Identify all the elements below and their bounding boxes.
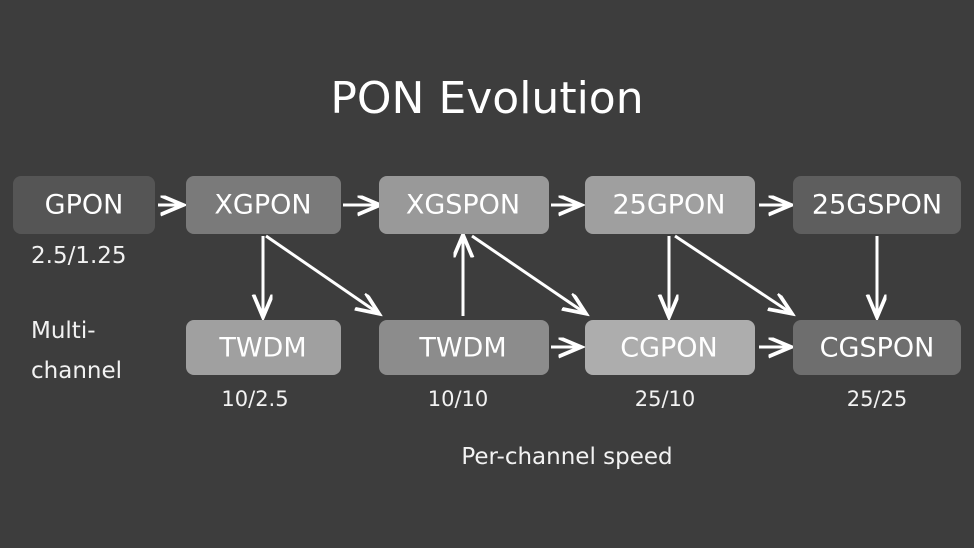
speed-twdm-1: 10/2.5 — [221, 387, 288, 411]
speed-cgspon: 25/25 — [847, 387, 908, 411]
speed-cgpon: 25/10 — [635, 387, 696, 411]
pon-evolution-diagram: PON Evolution — [0, 0, 974, 548]
node-25gpon[interactable]: 25GPON — [585, 176, 755, 234]
node-twdm-1-label: TWDM — [218, 333, 306, 364]
node-gpon[interactable]: GPON — [13, 176, 155, 234]
node-cgspon-label: CGSPON — [820, 333, 935, 364]
speed-twdm-2: 10/10 — [428, 387, 489, 411]
node-twdm-2-label: TWDM — [418, 333, 506, 364]
label-single-channel-speed: 2.5/1.25 — [31, 243, 127, 269]
node-twdm-2[interactable]: TWDM 10/10 — [379, 320, 549, 411]
node-xgpon-label: XGPON — [214, 190, 311, 221]
node-xgpon[interactable]: XGPON — [186, 176, 341, 234]
node-xgspon-label: XGSPON — [406, 190, 520, 221]
node-25gpon-label: 25GPON — [612, 190, 725, 221]
diagram-canvas: PON Evolution — [0, 0, 974, 548]
node-gpon-label: GPON — [45, 190, 124, 221]
node-25gspon-label: 25GSPON — [812, 190, 942, 221]
label-multi-channel-line2: channel — [31, 358, 122, 384]
edge-xgspon-to-cgpon — [472, 236, 585, 313]
node-cgspon[interactable]: CGSPON 25/25 — [793, 320, 961, 411]
diagram-title: PON Evolution — [330, 73, 643, 124]
diagram-caption: Per-channel speed — [461, 444, 672, 470]
edge-25gpon-to-cgspon — [675, 236, 791, 313]
node-cgpon[interactable]: CGPON 25/10 — [585, 320, 755, 411]
node-twdm-1[interactable]: TWDM 10/2.5 — [186, 320, 341, 411]
node-cgpon-label: CGPON — [620, 333, 718, 364]
edge-xgpon-to-twdm2 — [266, 236, 378, 313]
label-multi-channel-line1: Multi- — [31, 318, 96, 344]
node-xgspon[interactable]: XGSPON — [379, 176, 549, 234]
node-25gspon[interactable]: 25GSPON — [793, 176, 961, 234]
